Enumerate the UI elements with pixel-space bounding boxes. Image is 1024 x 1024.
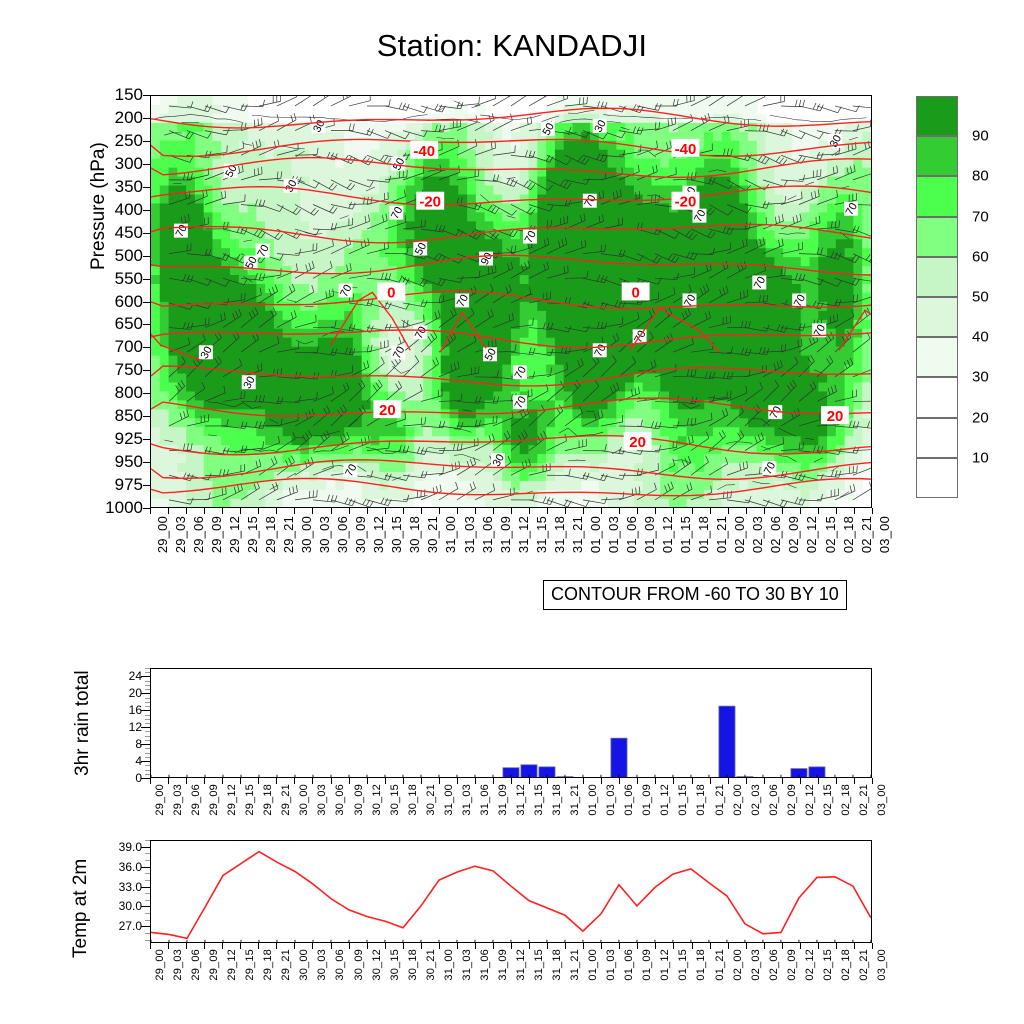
time-tick-31_21: 31_21 [570,516,585,553]
pressure-tick-mark [143,302,150,303]
time-tick-mark [421,508,422,514]
time-tick-02_09: 02_09 [786,949,798,981]
time-tick-01_00: 01_00 [587,949,599,981]
time-tick-mark [312,943,313,949]
temp-tick-mark [141,906,150,907]
rain-tick-mark [141,727,150,728]
time-tick-mark [367,943,368,949]
time-tick-29_03: 29_03 [172,784,184,816]
pressure-tick-750: 750 [115,360,143,380]
time-tick-29_03: 29_03 [173,516,188,553]
time-tick-mark [619,778,620,784]
temp-minor-mark [145,913,150,914]
colorbar-band-6 [916,337,958,377]
time-tick-mark [349,508,350,514]
time-tick-mark [746,508,747,514]
time-tick-02_21: 02_21 [859,516,874,553]
time-tick-30_12: 30_12 [371,784,383,816]
time-tick-mark [403,943,404,949]
colorbar-band-4 [916,257,958,297]
time-tick-31_21: 31_21 [569,784,581,816]
colorbar-label-50: 50 [972,289,989,306]
rain-minor-mark [145,731,150,732]
time-tick-mark [240,508,241,514]
time-tick-mark [331,508,332,514]
time-tick-30_09: 30_09 [353,949,365,981]
time-tick-30_18: 30_18 [407,949,419,981]
time-tick-mark [692,508,693,514]
time-tick-01_21: 01_21 [714,784,726,816]
time-tick-mark [818,778,819,784]
time-tick-31_09: 31_09 [498,516,513,553]
time-tick-mark [601,778,602,784]
rain-minor-mark [145,672,150,673]
time-tick-30_18: 30_18 [407,784,419,816]
rain-minor-mark [145,723,150,724]
rain-minor-mark [145,689,150,690]
temp-tick-mark [141,847,150,848]
time-tick-mark [782,778,783,784]
pressure-tick-200: 200 [115,108,143,128]
time-tick-30_12: 30_12 [371,516,386,553]
time-tick-31_00: 31_00 [443,949,455,981]
time-tick-mark [294,508,295,514]
time-tick-29_12: 29_12 [226,784,238,816]
pressure-axis-label: Pressure (hPa) [88,142,110,270]
time-tick-mark [619,508,620,514]
time-tick-30_06: 30_06 [334,784,346,816]
time-tick-mark [800,778,801,784]
pressure-tick-mark [143,324,150,325]
time-tick-mark [746,943,747,949]
time-tick-30_03: 30_03 [316,784,328,816]
time-tick-mark [240,778,241,784]
time-tick-31_15: 31_15 [533,784,545,816]
pressure-tick-mark [143,416,150,417]
time-tick-mark [222,508,223,514]
time-tick-mark [673,508,674,514]
time-tick-mark [583,943,584,949]
temperature-plot-area [150,840,872,943]
pressure-tick-650: 650 [115,314,143,334]
time-tick-31_18: 31_18 [552,516,567,553]
rain-minor-mark [145,765,150,766]
time-tick-29_15: 29_15 [244,949,256,981]
temp-minor-mark [145,900,150,901]
time-tick-01_21: 01_21 [714,516,729,553]
time-tick-02_00: 02_00 [732,784,744,816]
time-tick-mark [493,508,494,514]
time-tick-29_06: 29_06 [190,784,202,816]
time-tick-01_00: 01_00 [587,784,599,816]
time-tick-mark [529,778,530,784]
rain-tick-16: 16 [129,703,142,717]
time-tick-31_06: 31_06 [480,516,495,553]
humidity-colorbar: 908070605040302010 [916,96,958,498]
rain-tick-mark [141,676,150,677]
time-tick-mark [818,508,819,514]
time-tick-mark [258,943,259,949]
time-tick-mark [168,508,169,514]
time-tick-mark [493,943,494,949]
pressure-tick-700: 700 [115,337,143,357]
time-tick-mark [385,778,386,784]
time-tick-mark [728,943,729,949]
time-tick-01_06: 01_06 [623,949,635,981]
time-tick-mark [258,778,259,784]
time-tick-mark [565,943,566,949]
time-tick-mark [258,508,259,514]
time-tick-mark [294,943,295,949]
time-tick-01_18: 01_18 [695,949,707,981]
time-tick-30_18: 30_18 [407,516,422,553]
time-tick-mark [204,508,205,514]
time-tick-29_21: 29_21 [280,949,292,981]
temp-minor-mark [145,860,150,861]
time-tick-mark [764,778,765,784]
time-tick-mark [655,508,656,514]
time-tick-02_12: 02_12 [804,516,819,553]
time-tick-mark [385,508,386,514]
rain-minor-mark [145,702,150,703]
colorbar-band-5 [916,297,958,337]
temp-tick-mark [141,867,150,868]
time-tick-mark [673,943,674,949]
time-tick-02_21: 02_21 [858,949,870,981]
temp-minor-mark [145,853,150,854]
time-tick-mark [150,778,151,784]
time-tick-mark [439,943,440,949]
time-tick-mark [764,943,765,949]
time-tick-mark [457,778,458,784]
time-tick-mark [186,508,187,514]
pressure-tick-mark [143,347,150,348]
pressure-tick-mark [143,187,150,188]
time-tick-mark [800,943,801,949]
time-tick-mark [547,508,548,514]
time-tick-29_09: 29_09 [208,784,220,816]
pressure-tick-150: 150 [115,85,143,105]
pressure-tick-mark [143,164,150,165]
time-tick-mark [655,778,656,784]
time-tick-mark [782,508,783,514]
time-tick-mark [312,508,313,514]
time-tick-mark [457,943,458,949]
time-tick-02_03: 02_03 [750,784,762,816]
contour-note: CONTOUR FROM -60 TO 30 BY 10 [543,580,847,610]
time-tick-29_12: 29_12 [226,949,238,981]
pressure-tick-350: 350 [115,177,143,197]
time-tick-30_15: 30_15 [389,784,401,816]
colorbar-band-2 [916,176,958,216]
cross-section-panel: Pressure (hPa) 5030507050705070707050707… [150,95,872,508]
time-tick-29_03: 29_03 [172,949,184,981]
time-tick-29_12: 29_12 [227,516,242,553]
time-tick-02_15: 02_15 [823,516,838,553]
time-tick-mark [637,943,638,949]
temperature-panel: Temp at 2m 27.030.033.036.039.0 29_0029_… [150,840,872,943]
pressure-tick-1000: 1000 [105,498,143,518]
pressure-tick-mark [143,370,150,371]
time-tick-02_15: 02_15 [822,949,834,981]
time-tick-mark [746,778,747,784]
time-tick-mark [457,508,458,514]
rain-panel: 3hr rain total 04812162024 29_0029_0329_… [150,668,872,778]
time-tick-29_09: 29_09 [209,516,224,553]
time-tick-02_12: 02_12 [804,949,816,981]
time-tick-mark [421,943,422,949]
time-tick-31_12: 31_12 [515,949,527,981]
time-tick-02_06: 02_06 [768,784,780,816]
colorbar-label-90: 90 [972,128,989,145]
temp-tick-30.0: 30.0 [119,899,142,913]
time-tick-mark [331,943,332,949]
time-tick-02_03: 02_03 [750,949,762,981]
time-tick-mark [854,508,855,514]
page-title: Station: KANDADJI [0,28,1024,64]
time-tick-31_15: 31_15 [533,949,545,981]
time-tick-mark [710,943,711,949]
time-tick-01_15: 01_15 [677,949,689,981]
time-tick-mark [331,778,332,784]
time-tick-30_21: 30_21 [425,516,440,553]
time-tick-01_09: 01_09 [641,784,653,816]
rain-tick-mark [141,710,150,711]
time-tick-mark [854,943,855,949]
time-tick-mark [240,943,241,949]
time-tick-31_12: 31_12 [516,516,531,553]
time-tick-mark [529,508,530,514]
time-tick-01_15: 01_15 [677,784,689,816]
pressure-tick-mark [143,141,150,142]
time-tick-30_06: 30_06 [335,516,350,553]
time-tick-mark [872,508,873,514]
time-tick-29_18: 29_18 [262,784,274,816]
time-tick-mark [836,943,837,949]
time-tick-01_03: 01_03 [605,949,617,981]
time-tick-mark [294,778,295,784]
rain-minor-mark [145,698,150,699]
time-tick-31_12: 31_12 [515,784,527,816]
rain-tick-mark [141,778,150,779]
rain-minor-mark [145,715,150,716]
time-tick-mark [511,943,512,949]
time-tick-mark [349,778,350,784]
time-tick-mark [872,943,873,949]
temp-tick-33.0: 33.0 [119,880,142,894]
time-tick-mark [204,778,205,784]
colorbar-label-40: 40 [972,329,989,346]
time-tick-mark [511,508,512,514]
temperature-axis-label: Temp at 2m [70,859,92,958]
time-tick-30_15: 30_15 [389,949,401,981]
time-tick-29_06: 29_06 [190,949,202,981]
time-tick-mark [367,508,368,514]
time-tick-mark [800,508,801,514]
pressure-tick-mark [143,462,150,463]
rain-tick-mark [141,693,150,694]
temperature-line-graphic [151,841,871,943]
time-tick-31_18: 31_18 [551,949,563,981]
figure-root: Station: KANDADJI Pressure (hPa) 5030507… [0,0,1024,1024]
time-tick-03_00: 03_00 [876,784,888,816]
time-tick-mark [276,778,277,784]
rain-tick-24: 24 [129,669,142,683]
time-tick-01_15: 01_15 [678,516,693,553]
time-tick-31_09: 31_09 [497,949,509,981]
time-tick-03_00: 03_00 [877,516,892,553]
time-tick-mark [529,943,530,949]
time-tick-mark [349,943,350,949]
rain-minor-mark [145,736,150,737]
pressure-tick-500: 500 [115,246,143,266]
rain-tick-20: 20 [129,686,142,700]
cross-section-plot-area: 5030507050705070707050707070303070705070… [150,95,872,508]
time-tick-mark [565,778,566,784]
rain-minor-mark [145,748,150,749]
time-tick-31_03: 31_03 [461,949,473,981]
colorbar-label-20: 20 [972,409,989,426]
temp-minor-mark [145,840,150,841]
time-tick-mark [818,943,819,949]
pressure-tick-mark [143,485,150,486]
time-tick-mark [222,943,223,949]
time-tick-mark [475,778,476,784]
rain-tick-mark [141,744,150,745]
time-tick-30_12: 30_12 [371,949,383,981]
time-tick-mark [150,508,151,514]
time-tick-02_18: 02_18 [840,784,852,816]
rain-minor-mark [145,774,150,775]
time-tick-mark [312,778,313,784]
time-tick-mark [728,778,729,784]
time-tick-mark [186,943,187,949]
time-tick-mark [276,508,277,514]
time-tick-mark [583,508,584,514]
time-tick-30_09: 30_09 [353,784,365,816]
colorbar-label-60: 60 [972,248,989,265]
time-tick-31_21: 31_21 [569,949,581,981]
time-tick-01_21: 01_21 [714,949,726,981]
pressure-tick-mark [143,256,150,257]
colorbar-label-30: 30 [972,369,989,386]
time-tick-01_09: 01_09 [642,516,657,553]
time-tick-02_09: 02_09 [786,784,798,816]
time-tick-29_00: 29_00 [155,516,170,553]
time-tick-mark [710,778,711,784]
rain-minor-mark [145,668,150,669]
colorbar-band-9 [916,458,958,498]
temp-minor-mark [145,920,150,921]
time-tick-30_00: 30_00 [299,516,314,553]
time-tick-01_12: 01_12 [659,949,671,981]
rain-minor-mark [145,706,150,707]
time-tick-01_06: 01_06 [624,516,639,553]
time-tick-30_09: 30_09 [353,516,368,553]
time-tick-01_12: 01_12 [659,784,671,816]
time-tick-mark [439,778,440,784]
colorbar-band-3 [916,217,958,257]
time-tick-mark [168,943,169,949]
temperature-line [151,852,871,939]
time-tick-mark [692,943,693,949]
time-tick-29_06: 29_06 [191,516,206,553]
time-tick-31_03: 31_03 [461,784,473,816]
time-tick-29_18: 29_18 [262,949,274,981]
colorbar-band-0 [916,96,958,136]
temp-tick-mark [141,887,150,888]
rain-minor-mark [145,685,150,686]
time-tick-mark [637,508,638,514]
time-tick-mark [222,778,223,784]
pressure-tick-600: 600 [115,292,143,312]
temp-tick-27.0: 27.0 [119,919,142,933]
time-tick-29_18: 29_18 [263,516,278,553]
time-tick-30_21: 30_21 [425,784,437,816]
time-tick-02_21: 02_21 [858,784,870,816]
pressure-tick-mark [143,210,150,211]
pressure-tick-850: 850 [115,406,143,426]
pressure-tick-300: 300 [115,154,143,174]
time-tick-31_18: 31_18 [551,784,563,816]
rain-minor-mark [145,753,150,754]
rain-tick-mark [141,761,150,762]
time-tick-mark [439,508,440,514]
time-tick-mark [403,778,404,784]
time-tick-02_18: 02_18 [841,516,856,553]
time-tick-mark [872,778,873,784]
temp-minor-mark [145,873,150,874]
time-tick-mark [692,778,693,784]
pressure-tick-mark [143,233,150,234]
time-tick-03_00: 03_00 [876,949,888,981]
time-tick-mark [565,508,566,514]
time-tick-mark [601,508,602,514]
rain-minor-mark [145,770,150,771]
temp-tick-mark [141,926,150,927]
time-tick-29_15: 29_15 [244,784,256,816]
colorbar-label-70: 70 [972,208,989,225]
temp-tick-39.0: 39.0 [119,840,142,854]
time-tick-02_09: 02_09 [786,516,801,553]
colorbar-band-7 [916,377,958,417]
time-tick-30_03: 30_03 [317,516,332,553]
rain-minor-mark [145,740,150,741]
time-tick-mark [728,508,729,514]
time-tick-mark [836,508,837,514]
time-tick-01_03: 01_03 [605,784,617,816]
time-tick-01_18: 01_18 [695,784,707,816]
time-tick-02_15: 02_15 [822,784,834,816]
time-tick-31_00: 31_00 [443,516,458,553]
pressure-tick-mark [143,393,150,394]
time-tick-29_00: 29_00 [154,784,166,816]
pressure-tick-925: 925 [115,429,143,449]
rain-minor-mark [145,757,150,758]
rain-plot-area [150,668,872,778]
rain-tick-12: 12 [129,720,142,734]
time-tick-31_15: 31_15 [534,516,549,553]
time-tick-29_09: 29_09 [208,949,220,981]
pressure-tick-400: 400 [115,200,143,220]
time-tick-01_09: 01_09 [641,949,653,981]
time-tick-mark [276,943,277,949]
pressure-tick-250: 250 [115,131,143,151]
time-tick-mark [619,943,620,949]
time-tick-mark [854,778,855,784]
time-tick-01_00: 01_00 [588,516,603,553]
time-tick-mark [583,778,584,784]
